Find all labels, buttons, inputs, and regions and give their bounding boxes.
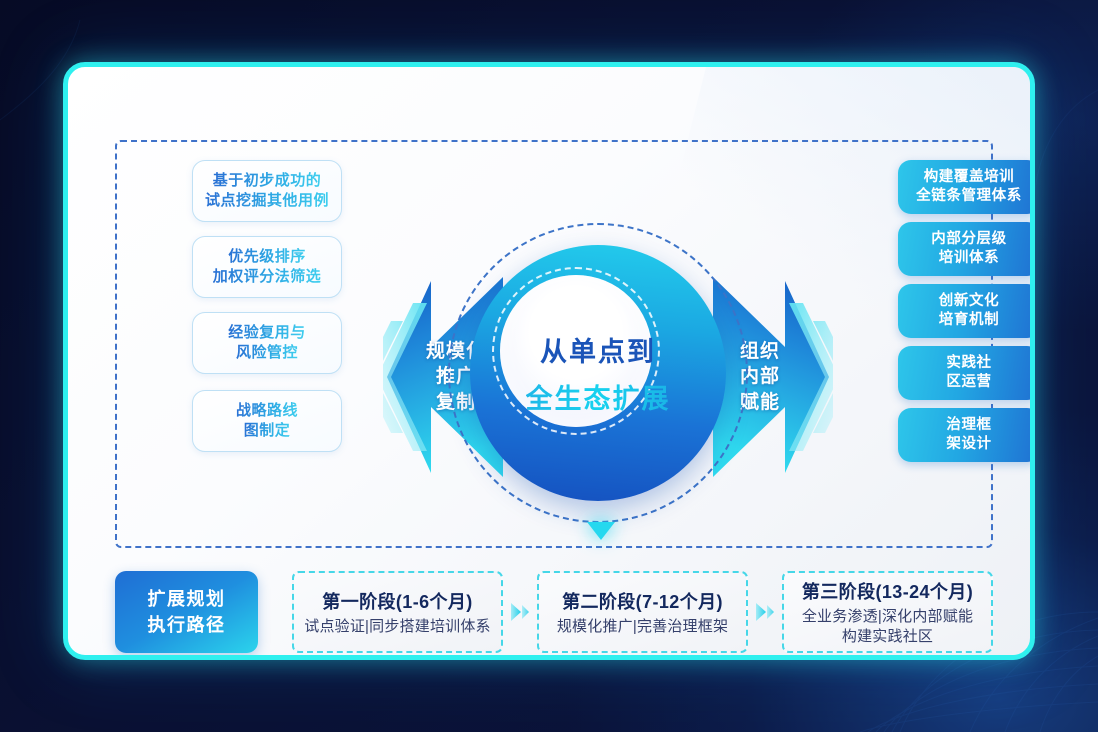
right-card-4[interactable]: 实践社 区运营: [898, 346, 1035, 400]
right-card-4-line-2: 区运营: [946, 373, 991, 392]
right-card-2[interactable]: 内部分层级 培训体系: [898, 222, 1035, 276]
timeline-phase-1-sub-1: 试点验证|同步搭建培训体系: [304, 617, 491, 637]
right-card-3-line-1: 创新文化: [939, 292, 999, 311]
timeline-phase-3-title: 第三阶段(13-24个月): [802, 578, 973, 604]
left-card-1[interactable]: 基于初步成功的 试点挖掘其他用例: [192, 160, 342, 222]
timeline-phase-3-sub-2: 构建实践社区: [842, 627, 933, 647]
timeline-phase-3[interactable]: 第三阶段(13-24个月) 全业务渗透|深化内部赋能 构建实践社区: [782, 571, 993, 653]
right-card-3[interactable]: 创新文化 培育机制: [898, 284, 1035, 338]
timeline-phase-1[interactable]: 第一阶段(1-6个月) 试点验证|同步搭建培训体系: [292, 571, 503, 653]
timeline-phase-2-sub-1: 规模化推广|完善治理框架: [557, 617, 728, 637]
timeline-phase-1-title: 第一阶段(1-6个月): [322, 588, 472, 614]
chevron-right-icon: [752, 599, 778, 625]
timeline: 扩展规划 执行路径 第一阶段(1-6个月) 试点验证|同步搭建培训体系 第二阶段…: [115, 571, 993, 653]
left-card-4[interactable]: 战略路线 图制定: [192, 390, 342, 452]
right-card-2-line-2: 培训体系: [939, 249, 999, 268]
left-card-1-line-1: 基于初步成功的: [213, 171, 322, 191]
left-card-2-line-1: 优先级排序: [228, 247, 306, 267]
timeline-title-line-2: 执行路径: [148, 612, 226, 638]
right-card-1-line-1: 构建覆盖培训: [924, 168, 1015, 187]
timeline-separator-2: [748, 599, 782, 625]
left-card-3-line-2: 风险管控: [236, 343, 298, 363]
left-card-2-line-2: 加权评分法筛选: [213, 267, 322, 287]
left-card-2[interactable]: 优先级排序 加权评分法筛选: [192, 236, 342, 298]
right-card-3-line-2: 培育机制: [939, 311, 999, 330]
timeline-title: 扩展规划 执行路径: [115, 571, 258, 653]
center-hub: 从单点到 全生态扩展: [448, 223, 748, 523]
right-card-2-line-1: 内部分层级: [931, 230, 1007, 249]
left-card-3[interactable]: 经验复用与 风险管控: [192, 312, 342, 374]
hub-title-line-1: 从单点到: [540, 330, 656, 369]
down-arrow-icon: [587, 522, 615, 540]
main-card: 规模化 推广 复制 组织 内部: [63, 62, 1035, 660]
right-card-1[interactable]: 构建覆盖培训 全链条管理体系: [898, 160, 1035, 214]
right-card-5[interactable]: 治理框 架设计: [898, 408, 1035, 462]
hub-title-line-2: 全生态扩展: [526, 377, 671, 416]
right-card-1-line-2: 全链条管理体系: [916, 187, 1022, 206]
left-card-3-line-1: 经验复用与: [228, 323, 306, 343]
left-card-4-line-1: 战略路线: [236, 401, 298, 421]
left-card-1-line-2: 试点挖掘其他用例: [205, 191, 329, 211]
right-card-5-line-2: 架设计: [946, 435, 991, 454]
left-card-4-line-2: 图制定: [244, 421, 291, 441]
timeline-title-line-1: 扩展规划: [148, 586, 226, 612]
right-card-5-line-1: 治理框: [946, 416, 991, 435]
timeline-phase-2-title: 第二阶段(7-12个月): [562, 588, 723, 614]
right-card-4-line-1: 实践社: [946, 354, 991, 373]
timeline-phase-2[interactable]: 第二阶段(7-12个月) 规模化推广|完善治理框架: [537, 571, 748, 653]
chevron-right-icon: [507, 599, 533, 625]
timeline-phase-3-sub-1: 全业务渗透|深化内部赋能: [802, 607, 973, 627]
hub-title: 从单点到 全生态扩展: [448, 223, 748, 523]
timeline-separator-1: [503, 599, 537, 625]
